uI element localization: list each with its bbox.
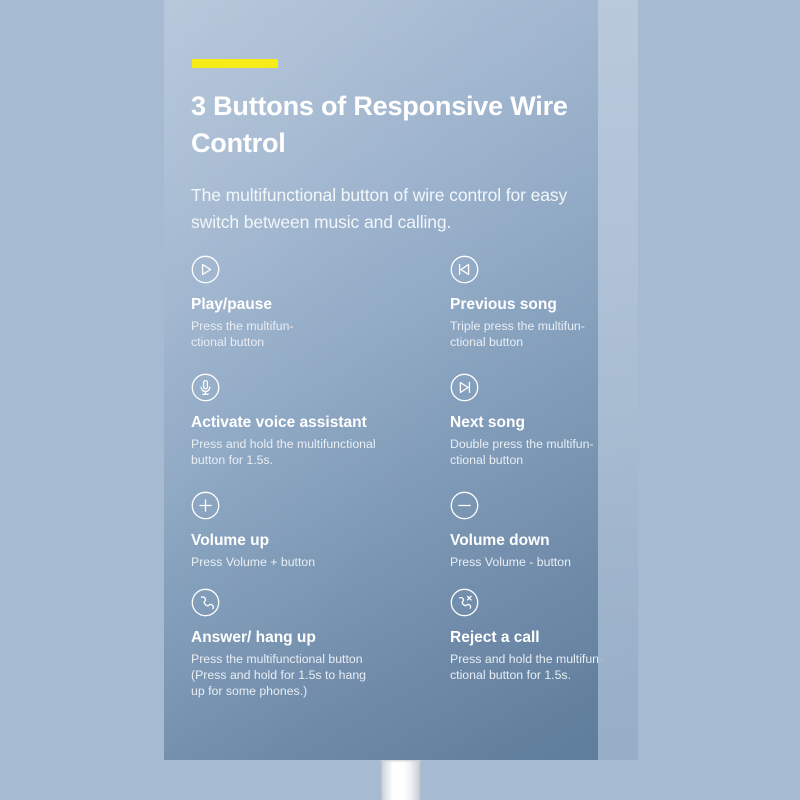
feature-title: Answer/ hang up [191,629,406,648]
microphone-circle-icon [191,373,220,402]
card-right-edge [598,0,638,760]
page-subtitle: The multifunctional button of wire contr… [191,182,611,235]
feature-item: Activate voice assistantPress and hold t… [191,373,406,468]
product-feature-card-scene: 3 Buttons of Responsive Wire Control The… [0,0,800,800]
feature-title: Volume up [191,532,406,551]
phone-reject-circle-icon [450,588,479,617]
feature-item: Volume upPress Volume + button [191,491,406,570]
yellow-accent-bar [192,59,278,68]
previous-song-circle-icon [450,255,479,284]
minus-circle-icon [450,491,479,520]
play-circle-icon [191,255,220,284]
feature-title: Activate voice assistant [191,414,406,433]
next-song-circle-icon [450,373,479,402]
feature-description: Press and hold the multifunctional butto… [191,436,406,468]
feature-item: Play/pausePress the multifun- ctional bu… [191,255,406,350]
feature-title: Play/pause [191,296,406,315]
phone-answer-circle-icon [191,588,220,617]
feature-description: Press the multifunctional button (Press … [191,651,406,700]
feature-item: Answer/ hang upPress the multifunctional… [191,588,406,699]
feature-description: Press Volume + button [191,554,406,570]
feature-card: 3 Buttons of Responsive Wire Control The… [164,0,638,760]
feature-description: Press the multifun- ctional button [191,318,406,350]
plus-circle-icon [191,491,220,520]
page-title: 3 Buttons of Responsive Wire Control [191,88,591,163]
